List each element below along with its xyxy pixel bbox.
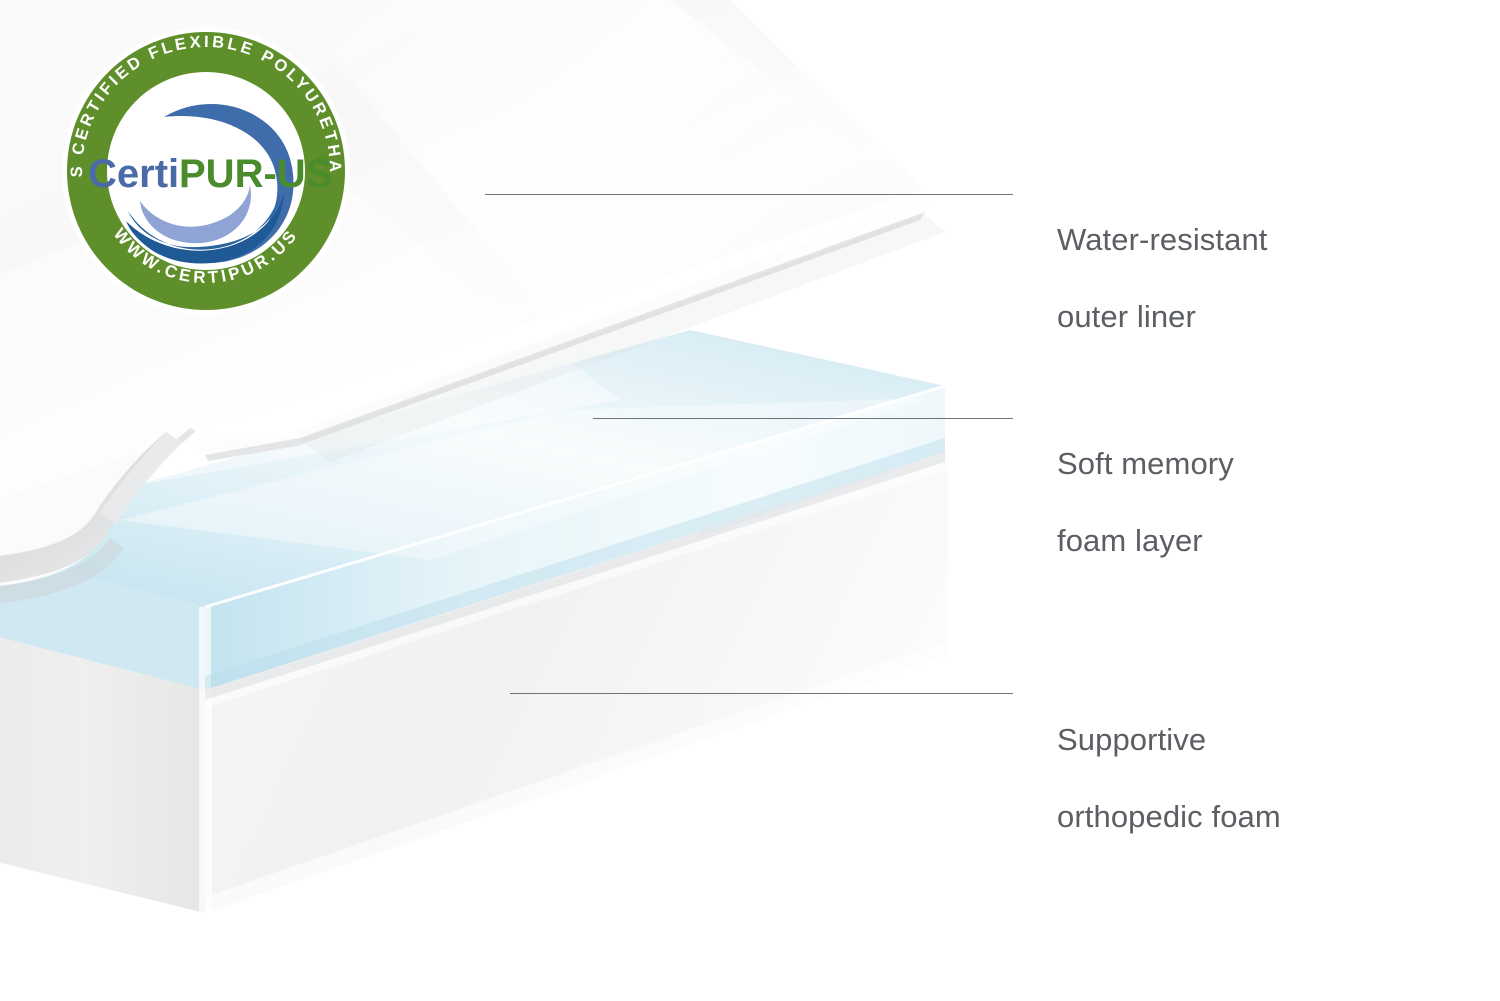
callout-orthopedic-foam: Supportive orthopedic foam [1057,682,1281,876]
badge-wordmark-purus: PUR-US [179,152,332,196]
callout-outer-liner-line2: outer liner [1057,298,1268,337]
leader-line-memory-foam [593,418,1013,419]
callout-memory-foam-line2: foam layer [1057,522,1234,561]
callout-orthopedic-foam-line1: Supportive [1057,721,1281,760]
callout-outer-liner: Water-resistant outer liner [1057,182,1268,376]
diagram-canvas: Water-resistant outer liner Soft memory … [0,0,1500,1001]
badge-trademark-symbol: ® [318,152,329,168]
callout-memory-foam: Soft memory foam layer [1057,406,1234,600]
certipur-us-badge: CONTAINS CERTIFIED FLEXIBLE POLYURETHANE… [46,25,366,317]
badge-wordmark-certi: Certi [88,152,179,196]
badge-wordmark: Certi PUR-US ® [88,152,332,196]
callout-memory-foam-line1: Soft memory [1057,445,1234,484]
leader-line-outer-liner [485,194,1013,195]
callout-orthopedic-foam-line2: orthopedic foam [1057,798,1281,837]
leader-line-orthopedic-foam [510,693,1013,694]
callout-outer-liner-line1: Water-resistant [1057,221,1268,260]
